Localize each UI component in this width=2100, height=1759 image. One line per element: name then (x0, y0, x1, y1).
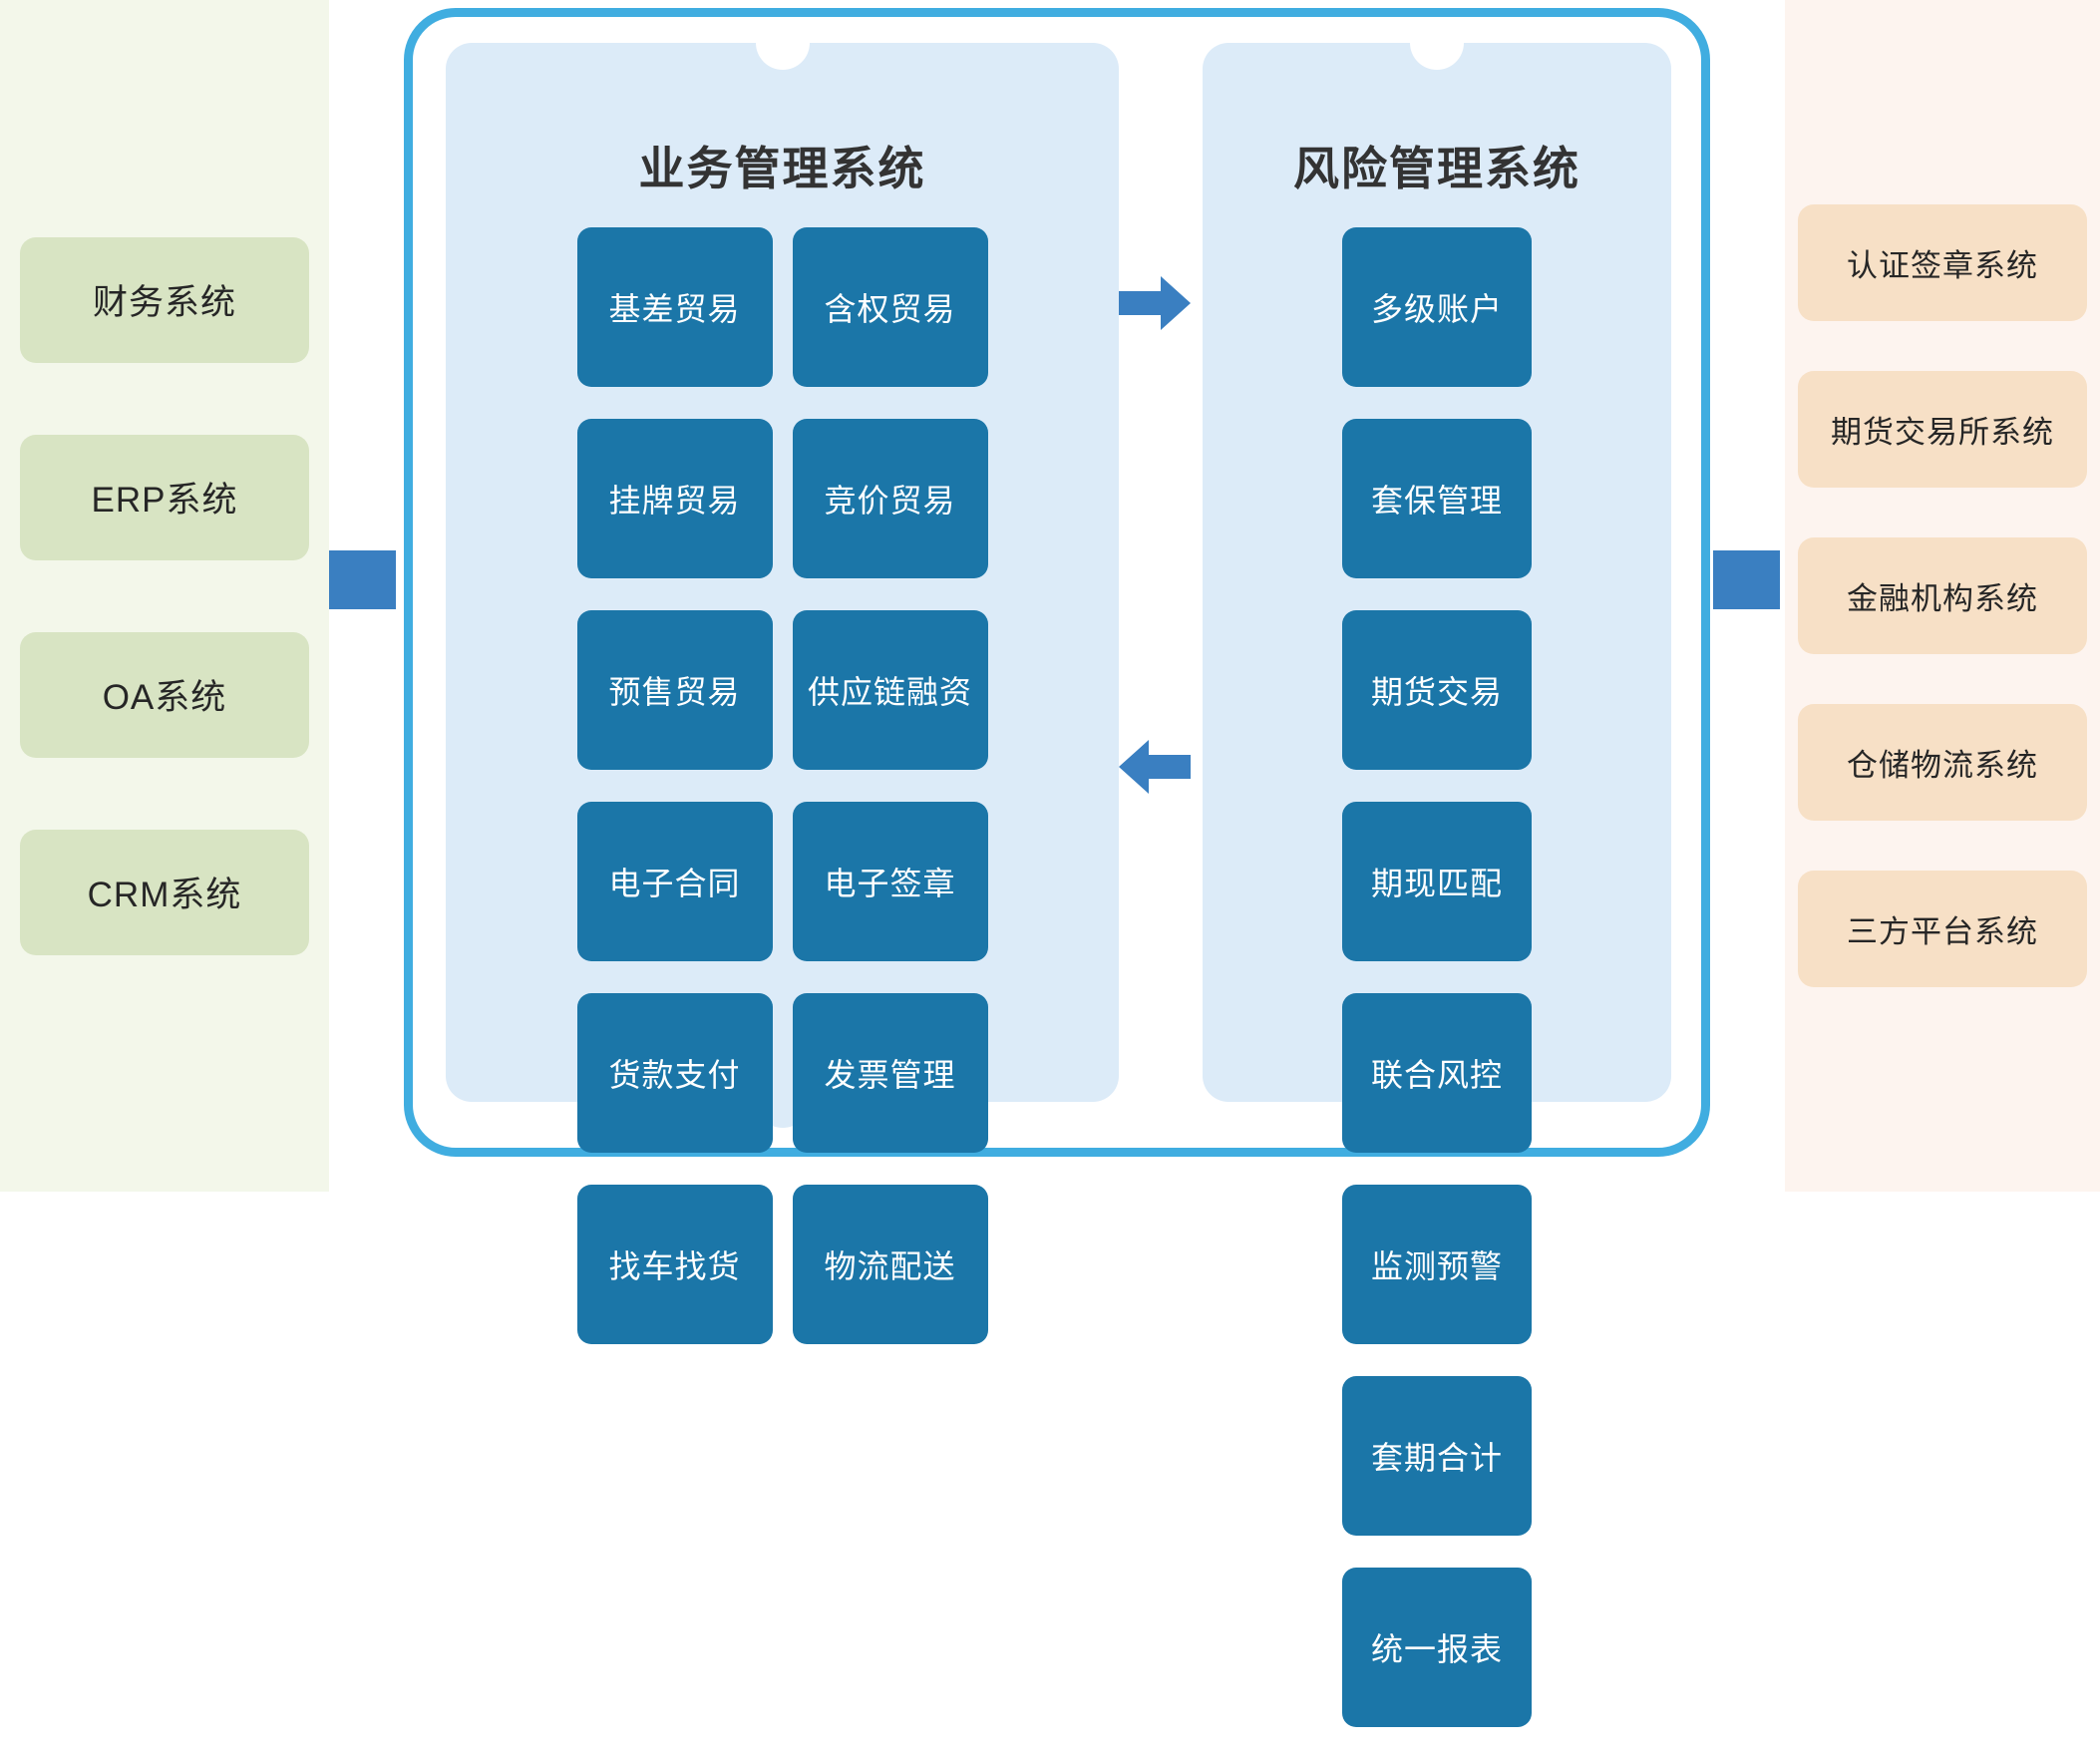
panel-business-title: 业务管理系统 (446, 133, 1119, 198)
right-system-box-1[interactable]: 期货交易所系统 (1798, 371, 2087, 488)
panel-top-notch-icon (1410, 42, 1464, 70)
right-system-label-0: 认证签章系统 (1847, 240, 2038, 285)
module-card-label: 套保管理 (1371, 476, 1503, 522)
right-system-box-4[interactable]: 三方平台系统 (1798, 871, 2087, 987)
module-card[interactable]: 多级账户 (1342, 227, 1532, 387)
module-card-label: 期货交易 (1371, 667, 1503, 713)
left-system-box-0[interactable]: 财务系统 (20, 237, 309, 363)
module-card-label: 电子合同 (608, 859, 740, 904)
module-card-label: 套期合计 (1371, 1433, 1503, 1479)
right-systems-column: 认证签章系统 期货交易所系统 金融机构系统 仓储物流系统 三方平台系统 (1785, 0, 2100, 1192)
module-card[interactable]: 竞价贸易 (793, 419, 988, 578)
module-card[interactable]: 基差贸易 (577, 227, 773, 387)
module-card[interactable]: 挂牌贸易 (577, 419, 773, 578)
module-card-label: 竞价贸易 (824, 476, 955, 522)
right-system-label-4: 三方平台系统 (1847, 906, 2038, 951)
arrow-left-icon (1119, 740, 1191, 794)
module-card-label: 电子签章 (824, 859, 955, 904)
panel-risk-title: 风险管理系统 (1203, 133, 1671, 198)
right-system-label-2: 金融机构系统 (1847, 573, 2038, 618)
module-card[interactable]: 套保管理 (1342, 419, 1532, 578)
right-system-box-2[interactable]: 金融机构系统 (1798, 537, 2087, 654)
module-card-label: 监测预警 (1371, 1241, 1503, 1287)
module-card[interactable]: 发票管理 (793, 993, 988, 1153)
left-system-box-1[interactable]: ERP系统 (20, 435, 309, 560)
module-card-label: 期现匹配 (1371, 859, 1503, 904)
module-card-label: 含权贸易 (824, 284, 955, 330)
module-card[interactable]: 联合风控 (1342, 993, 1532, 1153)
left-system-box-3[interactable]: CRM系统 (20, 830, 309, 955)
panel-risk-management: 风险管理系统 多级账户 套保管理 期货交易 期现匹配 联合风控 监测预警 套期合… (1203, 43, 1671, 1102)
left-system-label-2: OA系统 (103, 669, 227, 720)
module-card[interactable]: 供应链融资 (793, 610, 988, 770)
module-card[interactable]: 电子签章 (793, 802, 988, 961)
module-card-label: 多级账户 (1371, 284, 1503, 330)
module-card[interactable]: 物流配送 (793, 1185, 988, 1344)
module-card[interactable]: 找车找货 (577, 1185, 773, 1344)
left-system-label-1: ERP系统 (92, 472, 238, 523)
left-system-label-3: CRM系统 (88, 867, 242, 917)
module-card[interactable]: 期现匹配 (1342, 802, 1532, 961)
module-card-label: 预售贸易 (608, 667, 740, 713)
module-card-label: 基差贸易 (608, 284, 740, 330)
module-card[interactable]: 套期合计 (1342, 1376, 1532, 1536)
right-connector-block (1713, 550, 1780, 609)
module-card[interactable]: 期货交易 (1342, 610, 1532, 770)
module-card-label: 供应链融资 (808, 667, 972, 713)
module-card-label: 统一报表 (1371, 1624, 1503, 1670)
panel-top-notch-icon (756, 42, 810, 70)
arrow-right-icon (1119, 276, 1191, 330)
module-card-label: 物流配送 (824, 1241, 955, 1287)
left-system-box-2[interactable]: OA系统 (20, 632, 309, 758)
module-card[interactable]: 统一报表 (1342, 1568, 1532, 1727)
right-system-label-3: 仓储物流系统 (1847, 740, 2038, 785)
left-system-label-0: 财务系统 (93, 274, 236, 325)
module-card[interactable]: 预售贸易 (577, 610, 773, 770)
module-card[interactable]: 含权贸易 (793, 227, 988, 387)
panel-business-card-grid: 基差贸易 含权贸易 挂牌贸易 竞价贸易 预售贸易 供应链融资 电子合同 电子签章… (446, 227, 1119, 1376)
module-card[interactable]: 电子合同 (577, 802, 773, 961)
module-card[interactable]: 监测预警 (1342, 1185, 1532, 1344)
module-card-label: 发票管理 (824, 1050, 955, 1096)
left-connector-block (329, 550, 396, 609)
right-system-box-3[interactable]: 仓储物流系统 (1798, 704, 2087, 821)
module-card-label: 挂牌贸易 (608, 476, 740, 522)
right-system-box-0[interactable]: 认证签章系统 (1798, 204, 2087, 321)
panel-business-management: 业务管理系统 基差贸易 含权贸易 挂牌贸易 竞价贸易 预售贸易 供应链融资 电子… (446, 43, 1119, 1102)
module-card-label: 找车找货 (608, 1241, 740, 1287)
left-systems-column: 财务系统 ERP系统 OA系统 CRM系统 (0, 0, 329, 1192)
right-system-label-1: 期货交易所系统 (1831, 407, 2054, 452)
module-card-label: 联合风控 (1371, 1050, 1503, 1096)
panel-risk-card-grid: 多级账户 套保管理 期货交易 期现匹配 联合风控 监测预警 套期合计 统一报表 (1203, 227, 1671, 1759)
module-card-label: 货款支付 (608, 1050, 740, 1096)
module-card[interactable]: 货款支付 (577, 993, 773, 1153)
